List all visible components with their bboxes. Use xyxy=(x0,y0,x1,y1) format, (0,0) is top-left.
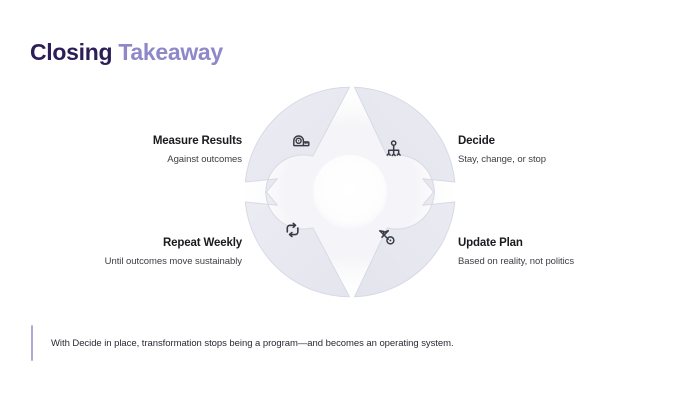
cycle-label-repeat-subtitle: Until outcomes move sustainably xyxy=(105,256,242,268)
cycle-label-measure-title: Measure Results xyxy=(153,134,242,148)
cycle-label-update-title: Update Plan xyxy=(458,236,574,250)
page-title-accent: Takeaway xyxy=(118,39,223,65)
cycle-hub xyxy=(313,155,387,229)
page-title: Closing Takeaway xyxy=(30,39,223,66)
cycle-label-repeat-title: Repeat Weekly xyxy=(105,236,242,250)
footer-accent-bar xyxy=(31,325,33,361)
cycle-diagram xyxy=(240,78,460,306)
footer-callout: With Decide in place, transformation sto… xyxy=(31,325,454,361)
cycle-label-repeat[interactable]: Repeat Weekly Until outcomes move sustai… xyxy=(105,236,242,268)
cycle-label-decide[interactable]: Decide Stay, change, or stop xyxy=(458,134,546,166)
cycle-label-decide-title: Decide xyxy=(458,134,546,148)
page-title-main: Closing xyxy=(30,39,112,65)
cycle-label-update[interactable]: Update Plan Based on reality, not politi… xyxy=(458,236,574,268)
cycle-label-decide-subtitle: Stay, change, or stop xyxy=(458,154,546,166)
cycle-label-update-subtitle: Based on reality, not politics xyxy=(458,256,574,268)
footer-callout-text: With Decide in place, transformation sto… xyxy=(51,338,454,349)
cycle-label-measure-subtitle: Against outcomes xyxy=(153,154,242,166)
cycle-label-measure[interactable]: Measure Results Against outcomes xyxy=(153,134,242,166)
slide-canvas: Closing Takeaway xyxy=(0,0,700,400)
